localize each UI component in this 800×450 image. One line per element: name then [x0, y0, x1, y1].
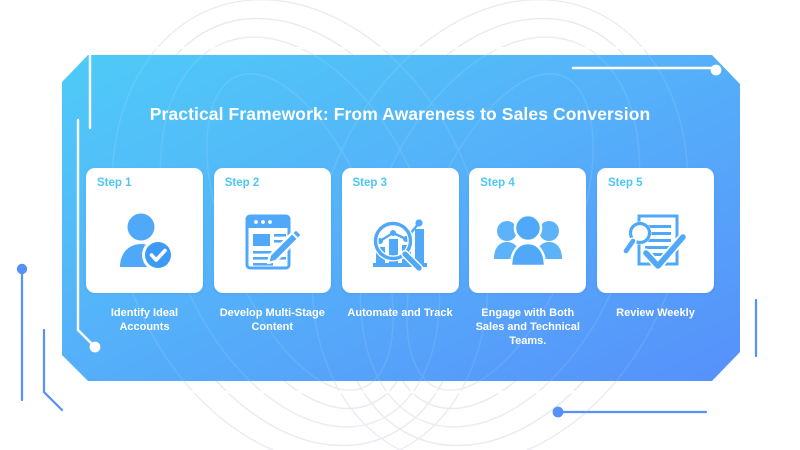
step-2-label: Step 2: [225, 177, 260, 189]
steps-row: Step 1 Identify Ideal Accounts: [86, 168, 714, 348]
step-card-2[interactable]: Step 2: [214, 168, 331, 348]
step-card-1-box[interactable]: Step 1: [86, 168, 203, 293]
step-card-4[interactable]: Step 4 Engage with Both Sales and Techni…: [469, 168, 586, 348]
infographic-canvas: Practical Framework: From Awareness to S…: [0, 0, 800, 450]
page-title: Practical Framework: From Awareness to S…: [0, 104, 800, 125]
step-card-3[interactable]: Step 3: [342, 168, 459, 348]
document-edit-icon: [214, 196, 331, 288]
step-4-label: Step 4: [480, 177, 515, 189]
step-4-caption: Engage with Both Sales and Technical Tea…: [469, 306, 586, 348]
step-5-label: Step 5: [608, 177, 643, 189]
step-card-2-box[interactable]: Step 2: [214, 168, 331, 293]
step-5-caption: Review Weekly: [597, 306, 714, 320]
step-3-caption: Automate and Track: [342, 306, 459, 320]
user-check-icon: [86, 196, 203, 288]
people-group-icon: [469, 196, 586, 288]
step-3-label: Step 3: [353, 177, 388, 189]
step-card-4-box[interactable]: Step 4: [469, 168, 586, 293]
step-2-caption: Develop Multi-Stage Content: [214, 306, 331, 334]
chart-magnifier-icon: [342, 196, 459, 288]
step-card-1[interactable]: Step 1 Identify Ideal Accounts: [86, 168, 203, 348]
step-card-5-box[interactable]: Step 5: [597, 168, 714, 293]
step-1-label: Step 1: [97, 177, 132, 189]
step-card-3-box[interactable]: Step 3: [342, 168, 459, 293]
step-card-5[interactable]: Step 5: [597, 168, 714, 348]
step-1-caption: Identify Ideal Accounts: [86, 306, 203, 334]
document-review-check-icon: [597, 196, 714, 288]
